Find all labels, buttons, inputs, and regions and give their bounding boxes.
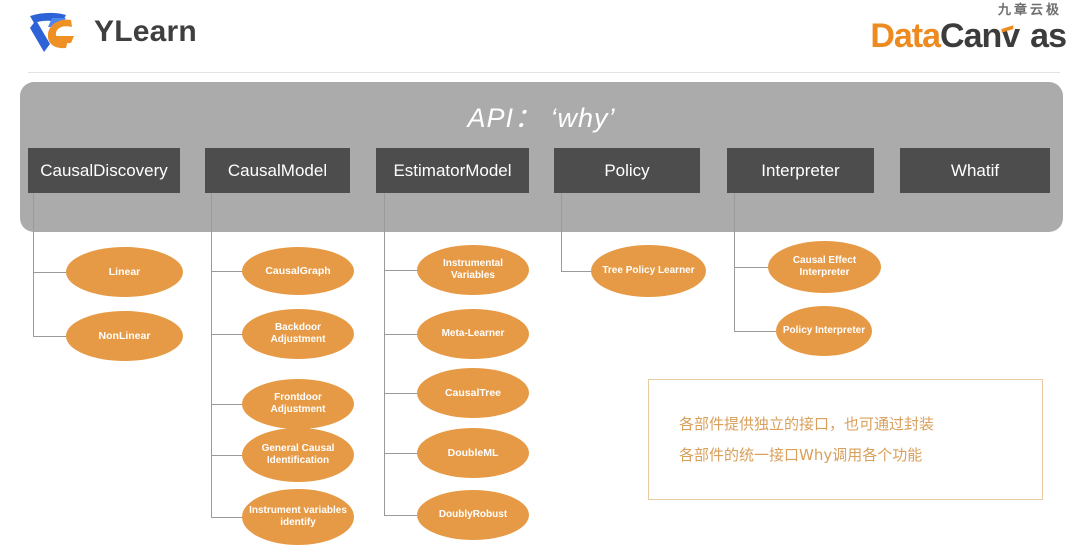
note-box: 各部件提供独立的接口，也可通过封装 各部件的统一接口Why调用各个功能 <box>648 379 1043 500</box>
module-box-policy[interactable]: Policy <box>554 148 700 193</box>
node-label: Linear <box>109 266 141 279</box>
datacanvas-word-canv: Canv <box>940 17 1019 55</box>
node-label: DoublyRobust <box>439 509 507 521</box>
datacanvas-wordmark: DataCanvas <box>870 19 1066 53</box>
note-line-1: 各部件提供独立的接口，也可通过封装 <box>679 414 1012 434</box>
node-causaltree[interactable]: CausalTree <box>417 368 529 418</box>
node-label: Frontdoor Adjustment <box>248 392 348 416</box>
module-box-interpreter[interactable]: Interpreter <box>727 148 874 193</box>
datacanvas-brand: 九章云极 DataCanvas <box>870 4 1066 53</box>
api-banner-title: API： ‘why’ <box>20 96 1063 135</box>
connector-trunk-causaldiscovery <box>33 193 34 337</box>
connector-trunk-interpreter <box>734 193 735 332</box>
module-box-causalmodel[interactable]: CausalModel <box>205 148 350 193</box>
connector-branch-tree-policy-learner <box>561 271 595 272</box>
connector-trunk-estimatormodel <box>384 193 385 515</box>
node-instrumental-variables[interactable]: Instrumental Variables <box>417 245 529 295</box>
connector-trunk-policy <box>561 193 562 272</box>
module-box-causaldiscovery[interactable]: CausalDiscovery <box>28 148 180 193</box>
note-line-2: 各部件的统一接口Why调用各个功能 <box>679 445 1012 465</box>
node-label: Meta-Learner <box>442 328 505 340</box>
node-linear[interactable]: Linear <box>66 247 183 297</box>
node-label: General Causal Identification <box>248 443 348 467</box>
datacanvas-word-data: Data <box>870 17 940 55</box>
connector-branch-doubleml <box>384 453 420 454</box>
datacanvas-chinese-name: 九章云极 <box>870 4 1062 17</box>
connector-branch-instrumental-variables <box>384 270 420 271</box>
node-backdoor-adjustment[interactable]: Backdoor Adjustment <box>242 309 354 359</box>
connector-branch-policy-interpreter <box>734 331 780 332</box>
connector-branch-causal-effect-interpreter <box>734 267 772 268</box>
node-instrument-variables-identify[interactable]: Instrument variables identify <box>242 489 354 545</box>
connector-branch-causaltree <box>384 393 420 394</box>
module-label: EstimatorModel <box>393 161 511 181</box>
node-label: CausalGraph <box>265 265 330 278</box>
module-box-estimatormodel[interactable]: EstimatorModel <box>376 148 529 193</box>
node-label: Backdoor Adjustment <box>248 322 348 346</box>
connector-trunk-causalmodel <box>211 193 212 518</box>
connector-branch-meta-learner <box>384 334 420 335</box>
datacanvas-word-as: as <box>1030 17 1066 55</box>
node-label: Policy Interpreter <box>783 325 865 337</box>
module-label: Policy <box>604 161 649 181</box>
ylearn-logo-icon <box>22 6 84 58</box>
node-nonlinear[interactable]: NonLinear <box>66 311 183 361</box>
connector-branch-nonlinear <box>33 336 69 337</box>
node-meta-learner[interactable]: Meta-Learner <box>417 309 529 359</box>
header-divider <box>28 72 1060 73</box>
module-label: CausalDiscovery <box>40 161 168 181</box>
module-label: Whatif <box>951 161 999 181</box>
module-box-whatif[interactable]: Whatif <box>900 148 1050 193</box>
node-policy-interpreter[interactable]: Policy Interpreter <box>776 306 872 356</box>
module-label: Interpreter <box>761 161 839 181</box>
connector-branch-linear <box>33 272 69 273</box>
node-label: Instrument variables identify <box>248 505 348 529</box>
module-label: CausalModel <box>228 161 327 181</box>
node-label: Instrumental Variables <box>423 258 523 282</box>
node-tree-policy-learner[interactable]: Tree Policy Learner <box>591 245 706 297</box>
node-label: Causal Effect Interpreter <box>774 255 875 279</box>
node-label: DoubleML <box>448 447 499 460</box>
node-general-causal-identification[interactable]: General Causal Identification <box>242 428 354 482</box>
connector-branch-doublyrobust <box>384 515 420 516</box>
ylearn-wordmark: YLearn <box>94 17 197 47</box>
node-frontdoor-adjustment[interactable]: Frontdoor Adjustment <box>242 379 354 429</box>
node-label: CausalTree <box>445 387 501 400</box>
node-causal-effect-interpreter[interactable]: Causal Effect Interpreter <box>768 241 881 293</box>
node-doublyrobust[interactable]: DoublyRobust <box>417 490 529 540</box>
node-label: Tree Policy Learner <box>602 265 694 277</box>
node-causalgraph[interactable]: CausalGraph <box>242 247 354 295</box>
ylearn-brand: YLearn <box>22 6 197 58</box>
node-label: NonLinear <box>99 330 151 343</box>
node-doubleml[interactable]: DoubleML <box>417 428 529 478</box>
diagram-canvas: YLearn 九章云极 DataCanvas API： ‘why’ <box>0 0 1080 557</box>
